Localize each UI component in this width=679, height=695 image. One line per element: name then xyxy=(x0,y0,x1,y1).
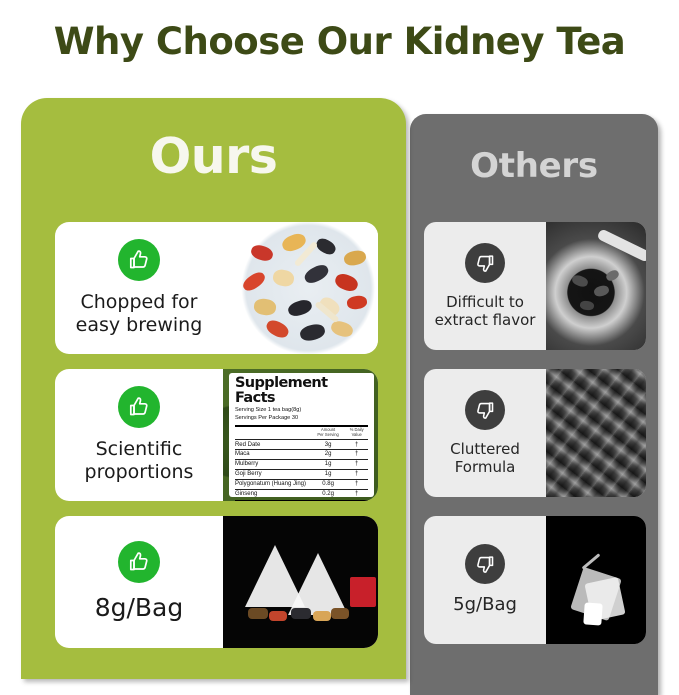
others-card-cluttered[interactable]: Cluttered Formula xyxy=(424,369,646,497)
facts-row-amount: 3g xyxy=(311,440,346,450)
flat-tea-bag-photo xyxy=(546,516,646,644)
table-row: Goji Berry 1g † xyxy=(235,470,368,480)
thumbs-down-icon xyxy=(465,243,505,283)
ours-card-scientific[interactable]: Scientific proportions Supplement Facts … xyxy=(55,369,378,501)
others-card-weight[interactable]: 5g/Bag xyxy=(424,516,646,644)
facts-row-name: Ginseng xyxy=(235,490,311,499)
ours-column-panel: Ours Chopped for easy brewing xyxy=(21,98,406,679)
facts-row-dv: † xyxy=(345,440,368,450)
table-row: Ginseng 0.2g † xyxy=(235,490,368,499)
supplement-facts-panel: Supplement Facts Serving Size 1 tea bag(… xyxy=(229,373,374,497)
ours-card-scientific-content: Scientific proportions xyxy=(55,369,223,501)
pyramid-tea-bags-photo xyxy=(223,516,378,648)
others-card-weight-content: 5g/Bag xyxy=(424,516,546,644)
facts-col-dv: % Daily Value xyxy=(345,427,368,440)
facts-bottom-rule xyxy=(235,500,368,501)
table-row: Maca 2g † xyxy=(235,450,368,460)
bowl-of-tea-photo xyxy=(546,222,646,350)
others-card-flavor[interactable]: Difficult to extract flavor xyxy=(424,222,646,350)
thumbs-up-icon xyxy=(118,541,160,583)
others-heading: Others xyxy=(410,146,658,186)
thumbs-down-icon xyxy=(465,390,505,430)
facts-row-amount: 0.2g xyxy=(311,490,346,499)
supplement-facts-label-photo: Supplement Facts Serving Size 1 tea bag(… xyxy=(223,369,378,501)
page-title: Why Choose Our Kidney Tea xyxy=(0,20,679,63)
facts-row-dv: † xyxy=(345,470,368,480)
supplement-facts-title: Supplement Facts xyxy=(235,376,368,406)
others-card-weight-label: 5g/Bag xyxy=(453,594,517,616)
others-card-flavor-content: Difficult to extract flavor xyxy=(424,222,546,350)
ours-card-scientific-label: Scientific proportions xyxy=(85,438,194,484)
facts-row-dv: † xyxy=(345,490,368,499)
facts-row-name: Red Date xyxy=(235,440,311,450)
facts-row-name: Polygonatum (Huang Jing) xyxy=(235,480,311,490)
ours-card-weight-label: 8g/Bag xyxy=(95,593,184,623)
thumbs-down-icon xyxy=(465,544,505,584)
facts-row-name: Maca xyxy=(235,450,311,460)
table-row: Red Date 3g † xyxy=(235,440,368,450)
others-card-cluttered-label: Cluttered Formula xyxy=(450,440,520,476)
facts-row-dv: † xyxy=(345,480,368,490)
ours-card-chopped-content: Chopped for easy brewing xyxy=(55,222,223,354)
thumbs-up-icon xyxy=(118,239,160,281)
ours-card-weight[interactable]: 8g/Bag xyxy=(55,516,378,648)
serving-size: Serving Size 1 tea bag(8g) xyxy=(235,407,368,415)
others-column-panel: Others Difficult to extract flavor xyxy=(410,114,658,695)
servings-per-package: Servings Per Package 30 xyxy=(235,415,368,423)
facts-row-amount: 1g xyxy=(311,460,346,470)
facts-row-dv: † xyxy=(345,460,368,470)
facts-row-name: Goji Berry xyxy=(235,470,311,480)
facts-rows: Red Date 3g † Maca 2g † xyxy=(235,440,368,499)
table-row: Polygonatum (Huang Jing) 0.8g † xyxy=(235,480,368,490)
ours-card-chopped-label: Chopped for easy brewing xyxy=(76,291,203,337)
facts-col-blank xyxy=(235,427,311,440)
thumbs-up-icon xyxy=(118,386,160,428)
ours-card-chopped[interactable]: Chopped for easy brewing xyxy=(55,222,378,354)
chopped-tea-mix-photo xyxy=(223,222,378,354)
facts-row-dv: † xyxy=(345,450,368,460)
facts-row-amount: 1g xyxy=(311,470,346,480)
ours-card-weight-content: 8g/Bag xyxy=(55,516,223,648)
facts-row-name: Mulberry xyxy=(235,460,311,470)
others-card-cluttered-content: Cluttered Formula xyxy=(424,369,546,497)
facts-row-amount: 2g xyxy=(311,450,346,460)
others-card-flavor-label: Difficult to extract flavor xyxy=(435,293,536,329)
supplement-facts-table: Amount Per Serving % Daily Value Red Dat… xyxy=(235,427,368,499)
facts-col-amount: Amount Per Serving xyxy=(311,427,346,440)
comparison-columns: Ours Chopped for easy brewing xyxy=(0,98,679,679)
ours-heading: Ours xyxy=(21,128,406,185)
table-row: Mulberry 1g † xyxy=(235,460,368,470)
facts-row-amount: 0.8g xyxy=(311,480,346,490)
cluttered-dried-herbs-photo xyxy=(546,369,646,497)
